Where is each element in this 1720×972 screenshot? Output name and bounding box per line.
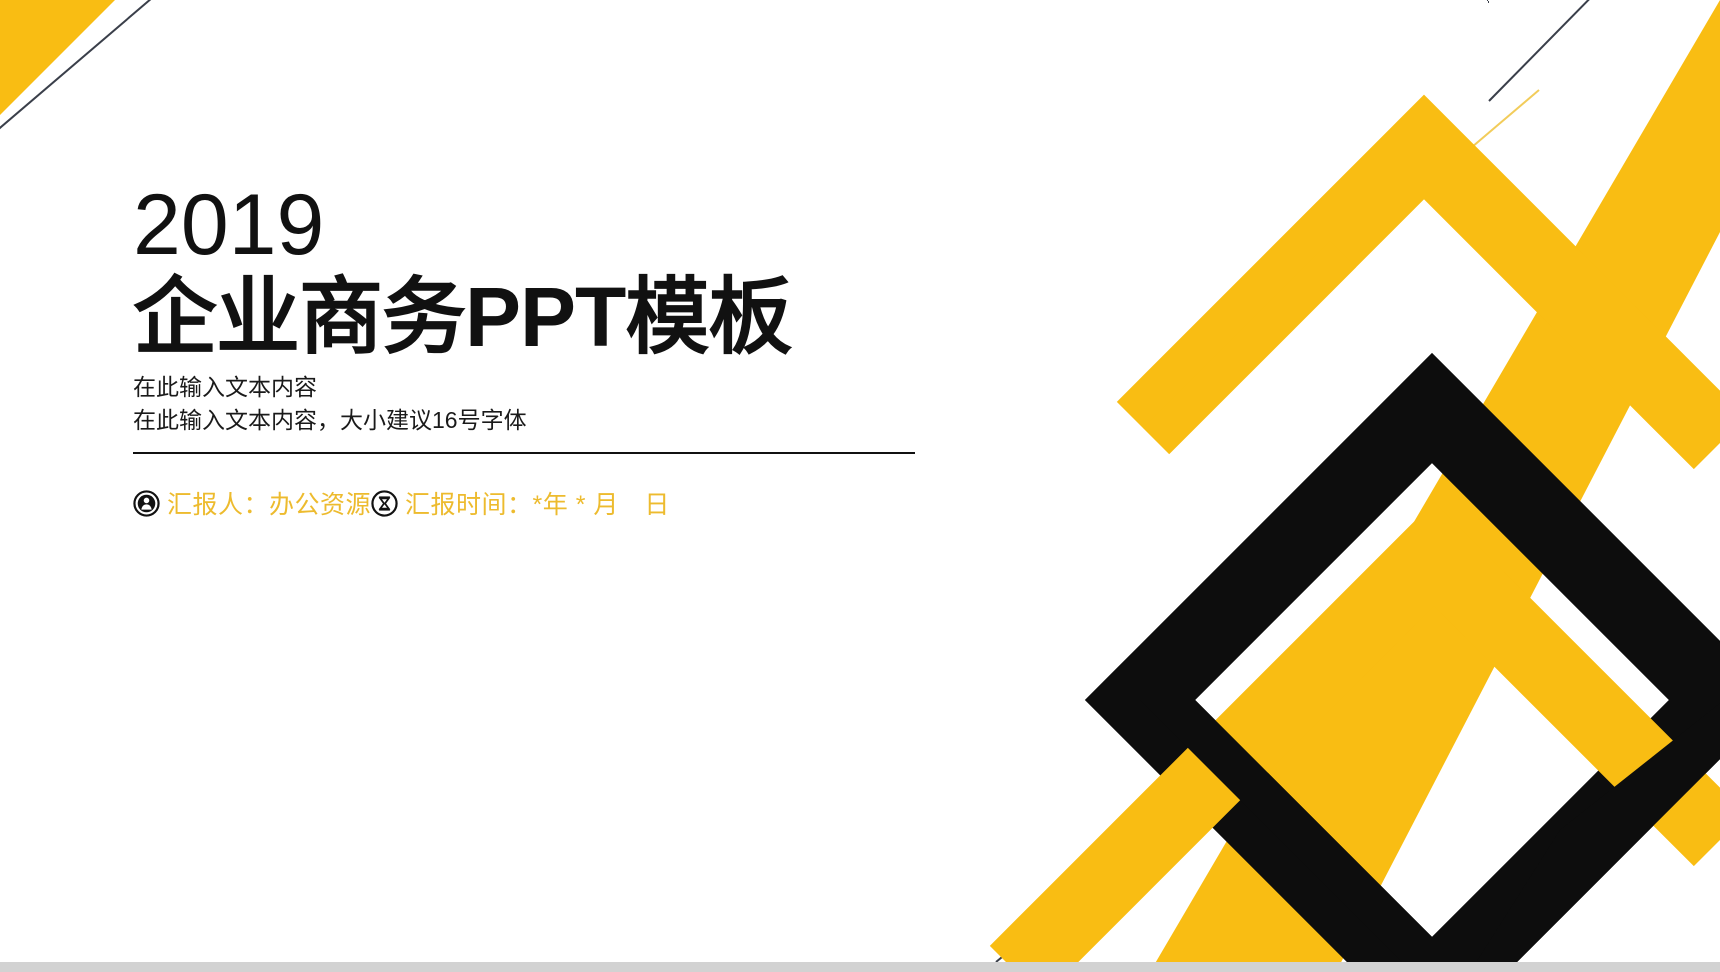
subtitle-block: 在此输入文本内容 在此输入文本内容，大小建议16号字体	[133, 371, 953, 436]
top-right-yellow-diagonal-icon	[1398, 90, 1539, 210]
presenter-label: 汇报人：办公资源	[167, 485, 371, 521]
year-label: 2019	[133, 185, 953, 267]
top-right-yellow-band-icon	[1150, 0, 1720, 972]
title-block: 2019 企业商务PPT模板 在此输入文本内容 在此输入文本内容，大小建议16号…	[133, 185, 953, 520]
divider-rule	[133, 452, 915, 454]
bottom-strip	[0, 962, 1720, 972]
presenter-meta: 汇报人：办公资源	[133, 486, 371, 520]
top-right-dark-diagonal-icon	[1489, 0, 1610, 101]
top-left-yellow-band-icon	[0, 0, 115, 265]
subtitle-line-1: 在此输入文本内容	[133, 371, 953, 404]
top-left-dark-hairline-icon	[0, 0, 152, 133]
subtitle-line-2: 在此输入文本内容，大小建议16号字体	[133, 404, 953, 437]
yellow-chevron-icon	[1143, 147, 1720, 443]
page-title: 企业商务PPT模板	[133, 273, 953, 361]
date-label: 汇报时间：*年 * 月 日	[405, 485, 670, 521]
date-meta: 汇报时间：*年 * 月 日	[371, 486, 670, 520]
black-diamond-weave-over-right-icon	[1432, 700, 1720, 972]
meta-row: 汇报人：办公资源 汇报时间：*年 * 月 日	[133, 486, 953, 520]
yellow-chevron-weave-over-icon	[1143, 147, 1720, 443]
black-diamond-weave-over-icon	[1140, 700, 1720, 972]
presentation-slide: 2019 企业商务PPT模板 在此输入文本内容 在此输入文本内容，大小建议16号…	[0, 0, 1720, 972]
person-badge-icon	[133, 490, 160, 517]
hourglass-icon	[371, 490, 398, 517]
bottom-left-dark-diagonal-icon	[996, 882, 1093, 962]
bottom-left-yellow-diagonal-icon	[1077, 805, 1213, 922]
yellow-lower-band-icon	[1016, 554, 1720, 972]
black-diamond-icon	[1140, 408, 1720, 972]
